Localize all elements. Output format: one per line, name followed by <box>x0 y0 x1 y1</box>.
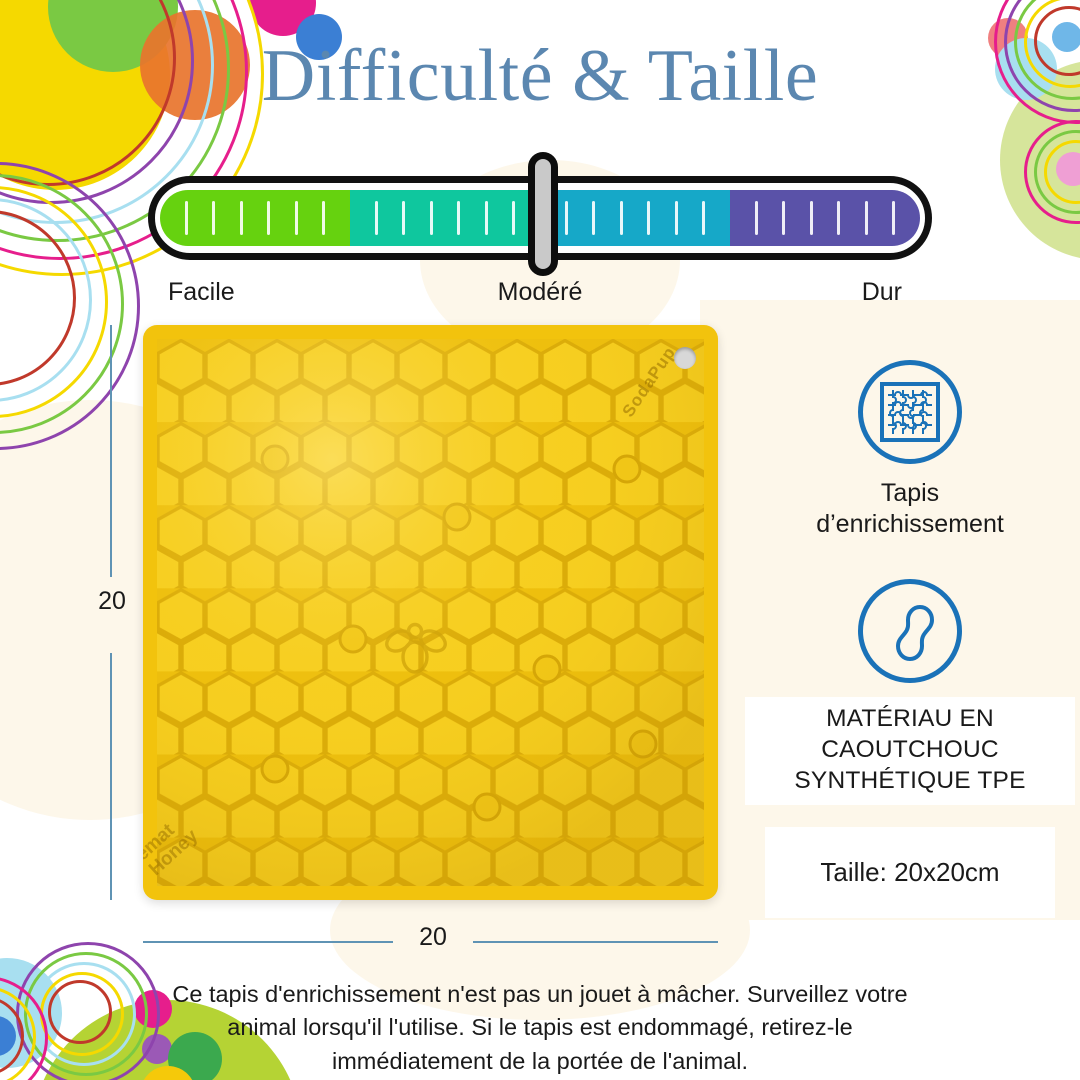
deco-circle-pink-r <box>1056 152 1080 186</box>
product-image: SodaPup emat Honey <box>143 325 718 900</box>
slider-tick <box>212 201 215 236</box>
dimension-height-value: 20 <box>84 587 140 616</box>
deco-circle-bluedot-bl <box>0 1016 16 1056</box>
deco-ring-bl-4 <box>24 952 148 1076</box>
mat-body: SodaPup emat Honey <box>143 325 718 900</box>
slider-tick <box>837 201 840 236</box>
material-line-2: SYNTHÉTIQUE TPE <box>747 765 1073 796</box>
rubber-peanut-glyph <box>877 598 943 664</box>
deco-ring-bl-c2 <box>0 986 36 1080</box>
slider-tick <box>782 201 785 236</box>
dimension-height: 20 <box>110 325 112 900</box>
slider-tick <box>565 201 568 236</box>
deco-ring-bl-c3 <box>0 976 48 1080</box>
dimension-line-right <box>473 941 718 943</box>
puzzle-mat-glyph <box>879 381 941 443</box>
slider-tick <box>402 201 405 236</box>
feature-label-line-2: d’enrichissement <box>745 509 1075 540</box>
deco-ring-tl-b4 <box>0 174 124 434</box>
slider-tick <box>647 201 650 236</box>
slider-tick <box>865 201 868 236</box>
dimension-line-upper <box>110 325 112 577</box>
slider-tick <box>240 201 243 236</box>
deco-ring-tl-b1 <box>0 210 76 386</box>
slider-segment-moderate-low <box>350 190 540 246</box>
deco-circle-lightblue-bl <box>0 958 62 1068</box>
difficulty-slider[interactable] <box>148 176 932 260</box>
slider-segment-moderate-high <box>540 190 730 246</box>
feature-material: MATÉRIAU EN CAOUTCHOUC SYNTHÉTIQUE TPE <box>745 579 1075 805</box>
dimension-width-value: 20 <box>393 923 473 952</box>
slider-label-easy: Facile <box>168 278 235 307</box>
dimension-line-lower <box>110 653 112 900</box>
slider-label-row: Facile Modéré Dur <box>148 278 932 312</box>
slider-tick <box>322 201 325 236</box>
slider-tick <box>267 201 270 236</box>
dimension-width: 20 <box>143 941 718 943</box>
deco-ring-bl-3 <box>32 962 136 1066</box>
feature-label-enrichment: Tapis d’enrichissement <box>745 478 1075 541</box>
slider-tick <box>592 201 595 236</box>
slider-label-moderate: Modéré <box>498 278 583 307</box>
honeycomb-pattern <box>157 339 704 886</box>
puzzle-mat-icon <box>858 360 962 464</box>
feature-label-line-1: Tapis <box>745 478 1075 509</box>
slider-handle[interactable] <box>528 152 558 276</box>
page-title: Difficulté & Taille <box>0 36 1080 117</box>
deco-ring-bl-2 <box>40 972 124 1056</box>
slider-tick <box>620 201 623 236</box>
material-line-1: MATÉRIAU EN CAOUTCHOUC <box>747 703 1073 766</box>
disclaimer-text: Ce tapis d'enrichissement n'est pas un j… <box>150 978 930 1078</box>
slider-tick <box>810 201 813 236</box>
deco-circle-magenta-tl <box>250 0 316 36</box>
rubber-peanut-icon <box>858 579 962 683</box>
material-text-box: MATÉRIAU EN CAOUTCHOUC SYNTHÉTIQUE TPE <box>745 697 1075 805</box>
slider-tick <box>485 201 488 236</box>
size-text-box: Taille: 20x20cm <box>765 827 1055 918</box>
slider-tick <box>457 201 460 236</box>
slider-tick <box>375 201 378 236</box>
infographic-page: Difficulté & Taille <box>0 0 1080 1080</box>
deco-ring-tl-b2 <box>0 198 92 402</box>
feature-enrichment-mat: Tapis d’enrichissement <box>745 360 1075 541</box>
slider-tick <box>512 201 515 236</box>
slider-label-hard: Dur <box>862 278 902 307</box>
slider-tick <box>892 201 895 236</box>
dimension-line-left <box>143 941 393 943</box>
slider-tick <box>430 201 433 236</box>
slider-segment-hard <box>730 190 920 246</box>
deco-ring-bl-1 <box>48 980 112 1044</box>
slider-segment-easy <box>160 190 350 246</box>
deco-ring-r-3 <box>1024 120 1080 224</box>
deco-ring-tl-b3 <box>0 186 108 418</box>
slider-tick <box>702 201 705 236</box>
slider-tick <box>185 201 188 236</box>
deco-ring-r-1 <box>1044 140 1080 204</box>
slider-tick <box>295 201 298 236</box>
slider-tick <box>755 201 758 236</box>
deco-ring-bl-5 <box>16 942 160 1080</box>
feature-column: Tapis d’enrichissement MATÉRIAU EN CAOUT… <box>745 360 1075 918</box>
deco-ring-bl-c1 <box>0 996 24 1076</box>
deco-ring-r-2 <box>1034 130 1080 214</box>
slider-tick <box>675 201 678 236</box>
mat-surface <box>157 339 704 886</box>
